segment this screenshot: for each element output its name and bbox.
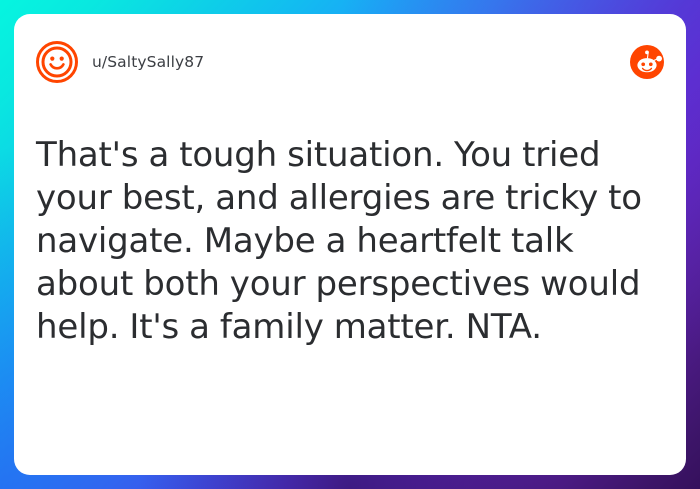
- reddit-comment-card: u/SaltySally87 That's a tough situation.…: [14, 14, 686, 475]
- reddit-snoo-logo-icon[interactable]: [630, 45, 664, 79]
- comment-text: That's a tough situation. You tried your…: [36, 134, 664, 349]
- card-body: That's a tough situation. You tried your…: [36, 134, 664, 453]
- screenshot-stage: u/SaltySally87 That's a tough situation.…: [0, 0, 700, 489]
- card-header: u/SaltySally87: [14, 14, 686, 110]
- smiley-face-avatar-icon: [36, 41, 78, 83]
- username-label: u/SaltySally87: [92, 53, 204, 72]
- user-identity[interactable]: u/SaltySally87: [36, 41, 630, 83]
